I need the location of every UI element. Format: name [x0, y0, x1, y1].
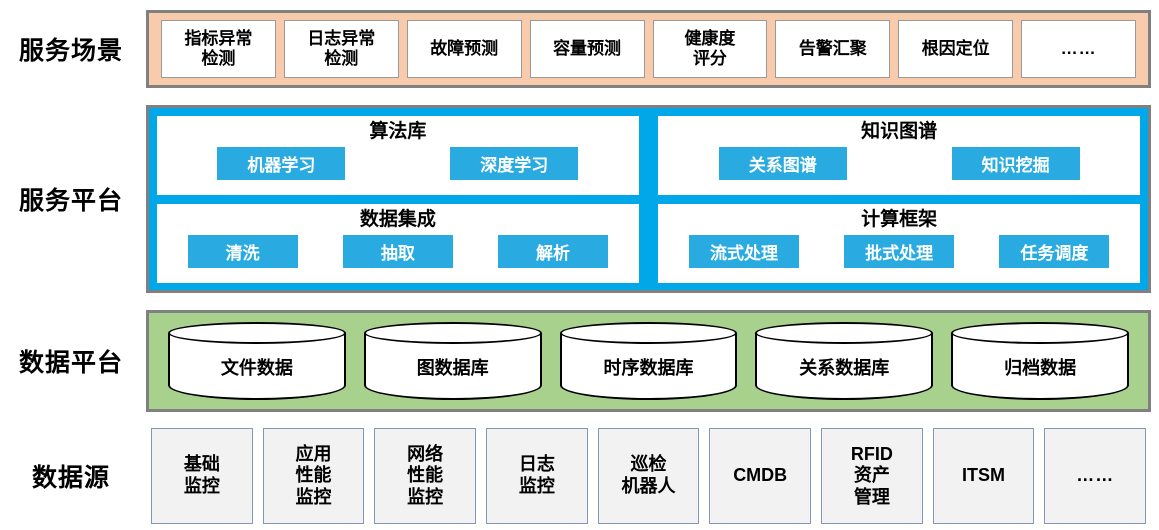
scenario-box[interactable]: 故障预测 [407, 20, 522, 78]
data-platform-band: 文件数据图数据库时序数据库关系数据库归档数据 [146, 310, 1151, 412]
platform-pill-row: 清洗抽取解析 [165, 235, 631, 268]
platform-pill[interactable]: 清洗 [188, 235, 298, 268]
platform-card-row-bottom: 数据集成清洗抽取解析计算框架流式处理批式处理任务调度 [157, 204, 1140, 283]
data-source-box[interactable]: CMDB [709, 428, 811, 524]
cylinder-label: 归档数据 [951, 333, 1129, 400]
platform-pill[interactable]: 机器学习 [217, 147, 345, 180]
platform-card-title: 算法库 [369, 119, 426, 145]
data-source-box[interactable]: ITSM [933, 428, 1035, 524]
scenario-box[interactable]: 健康度评分 [653, 20, 768, 78]
scenario-box[interactable]: 日志异常检测 [284, 20, 399, 78]
scenario-box[interactable]: 容量预测 [530, 20, 645, 78]
service-scenario-band: 指标异常检测日志异常检测故障预测容量预测健康度评分告警汇聚根因定位…… [146, 10, 1151, 88]
platform-pill[interactable]: 任务调度 [999, 235, 1109, 268]
platform-pill[interactable]: 抽取 [343, 235, 453, 268]
database-cylinder[interactable]: 关系数据库 [755, 322, 933, 400]
data-source-row: 基础监控应用性能监控网络性能监控日志监控巡检机器人CMDBRFID资产管理ITS… [146, 428, 1151, 524]
row-label-service-scenario: 服务场景 [0, 10, 142, 88]
platform-card-title: 数据集成 [360, 207, 436, 233]
platform-pill[interactable]: 批式处理 [844, 235, 954, 268]
platform-card[interactable]: 算法库机器学习深度学习 [157, 116, 639, 195]
data-source-box[interactable]: …… [1044, 428, 1146, 524]
scenario-box[interactable]: 告警汇聚 [775, 20, 890, 78]
platform-card-title: 知识图谱 [861, 119, 937, 145]
database-cylinder[interactable]: 文件数据 [168, 322, 346, 400]
platform-card[interactable]: 计算框架流式处理批式处理任务调度 [658, 204, 1140, 283]
database-cylinder[interactable]: 归档数据 [951, 322, 1129, 400]
platform-pill[interactable]: 关系图谱 [719, 147, 847, 180]
platform-pill[interactable]: 解析 [498, 235, 608, 268]
platform-pill-row: 关系图谱知识挖掘 [666, 147, 1132, 180]
cylinder-label: 文件数据 [168, 333, 346, 400]
row-label-data-platform: 数据平台 [0, 310, 142, 412]
service-platform-band: 算法库机器学习深度学习知识图谱关系图谱知识挖掘 数据集成清洗抽取解析计算框架流式… [146, 105, 1151, 293]
row-label-data-source: 数据源 [0, 428, 142, 524]
platform-card-row-top: 算法库机器学习深度学习知识图谱关系图谱知识挖掘 [157, 116, 1140, 195]
data-source-box[interactable]: 应用性能监控 [263, 428, 365, 524]
platform-pill-row: 机器学习深度学习 [165, 147, 631, 180]
platform-pill-row: 流式处理批式处理任务调度 [666, 235, 1132, 268]
data-source-box[interactable]: RFID资产管理 [821, 428, 923, 524]
scenario-box[interactable]: …… [1021, 20, 1136, 78]
cylinder-label: 时序数据库 [560, 333, 738, 400]
row-label-service-platform: 服务平台 [0, 105, 142, 293]
platform-card[interactable]: 数据集成清洗抽取解析 [157, 204, 639, 283]
platform-pill[interactable]: 知识挖掘 [952, 147, 1080, 180]
cylinder-label: 图数据库 [364, 333, 542, 400]
scenario-box[interactable]: 指标异常检测 [161, 20, 276, 78]
data-source-box[interactable]: 网络性能监控 [374, 428, 476, 524]
platform-card-title: 计算框架 [861, 207, 937, 233]
platform-card[interactable]: 知识图谱关系图谱知识挖掘 [658, 116, 1140, 195]
architecture-diagram: 服务场景 指标异常检测日志异常检测故障预测容量预测健康度评分告警汇聚根因定位……… [0, 0, 1159, 530]
database-cylinder[interactable]: 时序数据库 [560, 322, 738, 400]
data-source-box[interactable]: 基础监控 [151, 428, 253, 524]
data-source-box[interactable]: 巡检机器人 [598, 428, 700, 524]
data-source-box[interactable]: 日志监控 [486, 428, 588, 524]
cylinder-label: 关系数据库 [755, 333, 933, 400]
platform-pill[interactable]: 流式处理 [689, 235, 799, 268]
platform-pill[interactable]: 深度学习 [450, 147, 578, 180]
scenario-box[interactable]: 根因定位 [898, 20, 1013, 78]
database-cylinder[interactable]: 图数据库 [364, 322, 542, 400]
